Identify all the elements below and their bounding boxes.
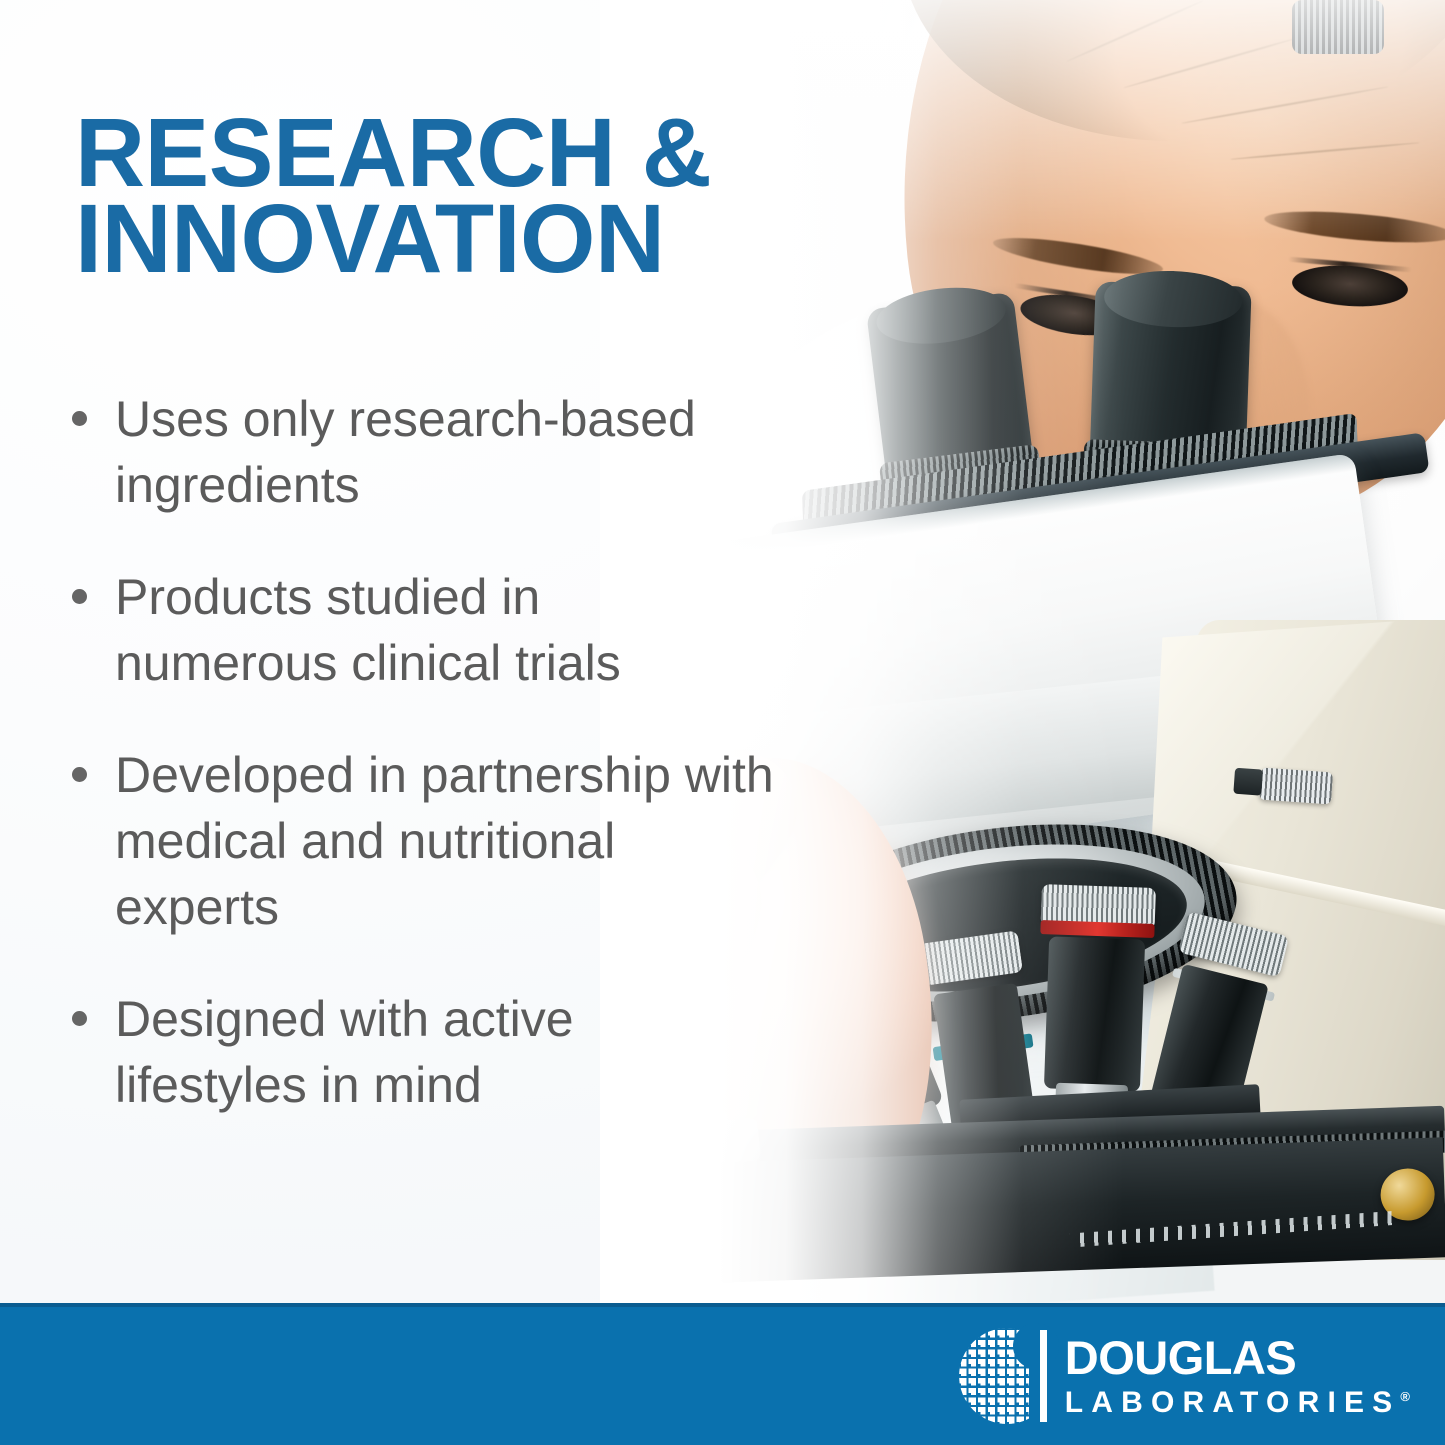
- objective-lens-red: [1034, 884, 1156, 1118]
- logo-sub-brand: LABORATORIES®: [1065, 1388, 1410, 1418]
- page-title: RESEARCH & INNOVATION: [75, 110, 775, 283]
- list-item: Uses only research-based ingredients: [72, 386, 812, 518]
- microscope-top-knob: [1292, 0, 1384, 54]
- logo-brand-name: DOUGLAS: [1065, 1334, 1410, 1381]
- promo-banner: RESEARCH & INNOVATION Uses only research…: [0, 0, 1445, 1445]
- brand-footer: DOUGLAS LABORATORIES®: [0, 1303, 1445, 1445]
- microscope-arm-screw: [1259, 768, 1333, 805]
- benefits-list: Uses only research-based ingredients Pro…: [72, 386, 812, 1164]
- list-item-label: Developed in partnership with medical an…: [115, 742, 775, 940]
- registered-trademark-icon: ®: [1400, 1389, 1410, 1404]
- list-item: Products studied in numerous clinical tr…: [72, 564, 812, 696]
- douglas-laboratories-logo: DOUGLAS LABORATORIES®: [959, 1328, 1410, 1424]
- list-item-label: Designed with active lifestyles in mind: [115, 986, 775, 1118]
- logo-sub-brand-text: LABORATORIES: [1065, 1386, 1401, 1419]
- bullet-dot-icon: [72, 411, 87, 426]
- bullet-dot-icon: [72, 589, 87, 604]
- douglas-grid-c-mark-icon: [959, 1328, 1055, 1424]
- bullet-dot-icon: [72, 767, 87, 782]
- logo-wordmark: DOUGLAS LABORATORIES®: [1065, 1334, 1410, 1418]
- list-item-label: Products studied in numerous clinical tr…: [115, 564, 775, 696]
- bullet-dot-icon: [72, 1011, 87, 1026]
- list-item: Developed in partnership with medical an…: [72, 742, 812, 940]
- list-item-label: Uses only research-based ingredients: [115, 386, 775, 518]
- page-title-line-2: INNOVATION: [75, 196, 775, 282]
- list-item: Designed with active lifestyles in mind: [72, 986, 812, 1118]
